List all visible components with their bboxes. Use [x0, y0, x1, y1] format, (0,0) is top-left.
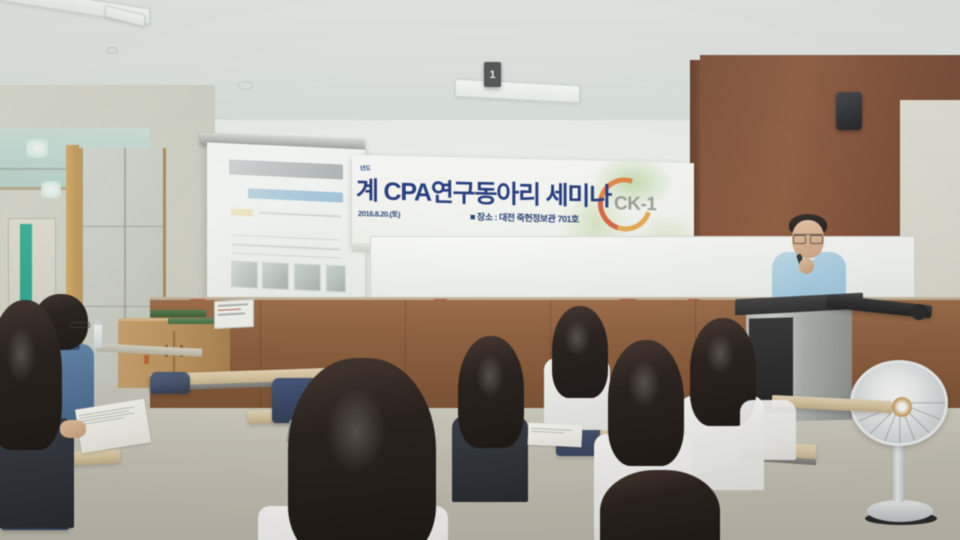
slide-title-bar [229, 160, 343, 180]
slide-highlight-box [231, 208, 253, 216]
bottle-cap [95, 320, 101, 325]
fan-base [867, 500, 933, 522]
slide-subtitle-bar [248, 188, 343, 203]
paper-text-line [531, 431, 564, 434]
fan-pole [893, 442, 905, 502]
slide-image-thumbnail [231, 260, 258, 289]
water-bottle[interactable] [94, 324, 102, 348]
hair-highlight [6, 326, 36, 382]
book-stack [168, 318, 220, 324]
slide-image-thumbnail [294, 263, 321, 292]
smoke-detector-icon [106, 47, 118, 54]
projection-screen [207, 142, 365, 311]
sign-text-line [218, 312, 245, 315]
banner-place: ■ 장소 : 대전 죽헌정보관 701호 [470, 210, 579, 226]
arm-joint [911, 304, 927, 320]
banner-title: 계 CPA연구동아리 세미나 [356, 171, 611, 213]
pedestal-fan[interactable] [845, 360, 955, 540]
classroom-chair[interactable] [150, 372, 190, 394]
glasses-icon [793, 234, 823, 241]
presenter-hand [799, 258, 814, 274]
book-stack [150, 310, 206, 317]
student-hair [600, 470, 720, 540]
student-torso [740, 400, 796, 460]
sign-text-line [218, 308, 241, 311]
hair-highlight [706, 334, 734, 374]
banner-date: 2016.8.20.(토) [358, 208, 400, 220]
partition-seam [83, 226, 163, 227]
handout-paper [527, 423, 582, 448]
slide-text-line [232, 234, 339, 240]
hair-highlight [476, 354, 504, 398]
desk-sign [214, 299, 254, 329]
hand [60, 420, 86, 438]
ck1-logo-text: CK-1 [614, 193, 656, 216]
hair-highlight [628, 360, 660, 408]
slide-image-thumbnail [326, 264, 347, 292]
window-light-glow [26, 139, 48, 158]
slide-text-line [259, 212, 341, 218]
slide-image-thumbnail [262, 262, 289, 291]
student-hair [0, 300, 62, 450]
cabinet-lock-icon [144, 355, 149, 364]
glasses-icon [70, 322, 90, 328]
sign-text-line [218, 303, 248, 306]
panel-seam [260, 300, 261, 420]
smoke-detector-icon [238, 81, 253, 90]
slide-text-line [232, 252, 339, 258]
ceiling-device-marker: 1 [484, 62, 501, 87]
window-light-glow [41, 181, 61, 198]
hair-highlight [564, 320, 590, 356]
slide-text-line [232, 244, 339, 250]
hair-highlight [326, 388, 386, 474]
fan-hub [892, 397, 912, 417]
speaker-cone [845, 108, 853, 116]
lecture-hall-photo: 1 CK-1 년도 계 CPA연구동아리 세미 [0, 0, 960, 540]
